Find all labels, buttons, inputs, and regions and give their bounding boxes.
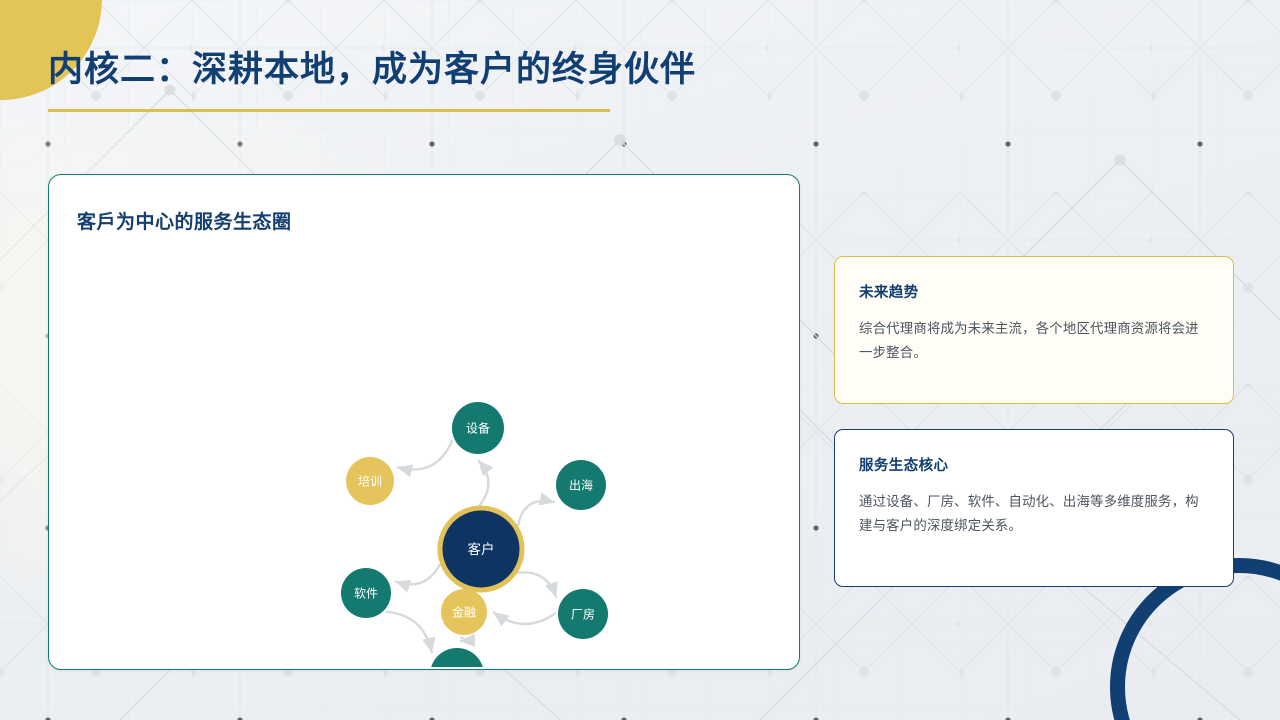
graph-node-automation[interactable]: 自动化 [430,648,484,667]
page-title: 内核二：深耕本地，成为客户的终身伙伴 [48,50,696,90]
graph-edge [479,461,489,505]
side-panel-column: 未来趋势 综合代理商将成为未来主流，各个地区代理商资源将会进一步整合。 服务生态… [834,174,1234,670]
node-label: 出海 [569,478,593,493]
ecosystem-graph-svg: 客户设备培训出海软件金融厂房自动化 [49,247,801,667]
info-panel-body: 综合代理商将成为未来主流，各个地区代理商资源将会进一步整合。 [859,317,1209,365]
title-underline [48,109,610,112]
node-label: 金融 [452,605,476,620]
info-panel-title: 服务生态核心 [859,454,1209,475]
info-panel-title: 未来趋势 [859,281,1209,302]
graph-edge [518,501,554,525]
node-label: 培训 [358,474,382,489]
node-label: 软件 [354,587,378,601]
ecosystem-graph: 客户设备培训出海软件金融厂房自动化 [49,247,801,667]
graph-edge [398,441,452,470]
info-panel-service-core: 服务生态核心 通过设备、厂房、软件、自动化、出海等多维度服务，构建与客户的深度绑… [834,429,1234,587]
graph-node-training[interactable]: 培训 [346,457,394,505]
graph-node-factory[interactable]: 厂房 [558,589,608,639]
graph-edge [518,572,556,597]
graph-node-software[interactable]: 软件 [341,568,391,618]
graph-edge [494,613,555,625]
graph-node-equipment[interactable]: 设备 [452,402,504,454]
node-label: 厂房 [571,607,595,622]
node-label: 客户 [468,541,495,557]
ecosystem-card: 客戶为中心的服务生态圈 客户设备培训出海软件金融厂房自动化 [48,174,800,670]
slide-content: 客戶为中心的服务生态圈 客户设备培训出海软件金融厂房自动化 未来趋势 综合代理商… [48,174,1234,670]
graph-nodes: 客户设备培训出海软件金融厂房自动化 [341,402,608,667]
info-panel-future-trend: 未来趋势 综合代理商将成为未来主流，各个地区代理商资源将会进一步整合。 [834,256,1234,404]
graph-node-finance[interactable]: 金融 [441,589,487,635]
ecosystem-card-title: 客戶为中心的服务生态圈 [77,207,292,234]
node-label: 设备 [466,422,490,436]
graph-node-overseas[interactable]: 出海 [556,460,606,510]
graph-edge [396,565,440,585]
info-panel-body: 通过设备、厂房、软件、自动化、出海等多维度服务，构建与客户的深度绑定关系。 [859,490,1209,538]
slide-header: 内核二：深耕本地，成为客户的终身伙伴 [48,50,696,112]
graph-edge [387,612,432,653]
node-circle [430,648,484,667]
graph-edge [461,638,466,641]
graph-node-customer[interactable]: 客户 [440,508,522,590]
